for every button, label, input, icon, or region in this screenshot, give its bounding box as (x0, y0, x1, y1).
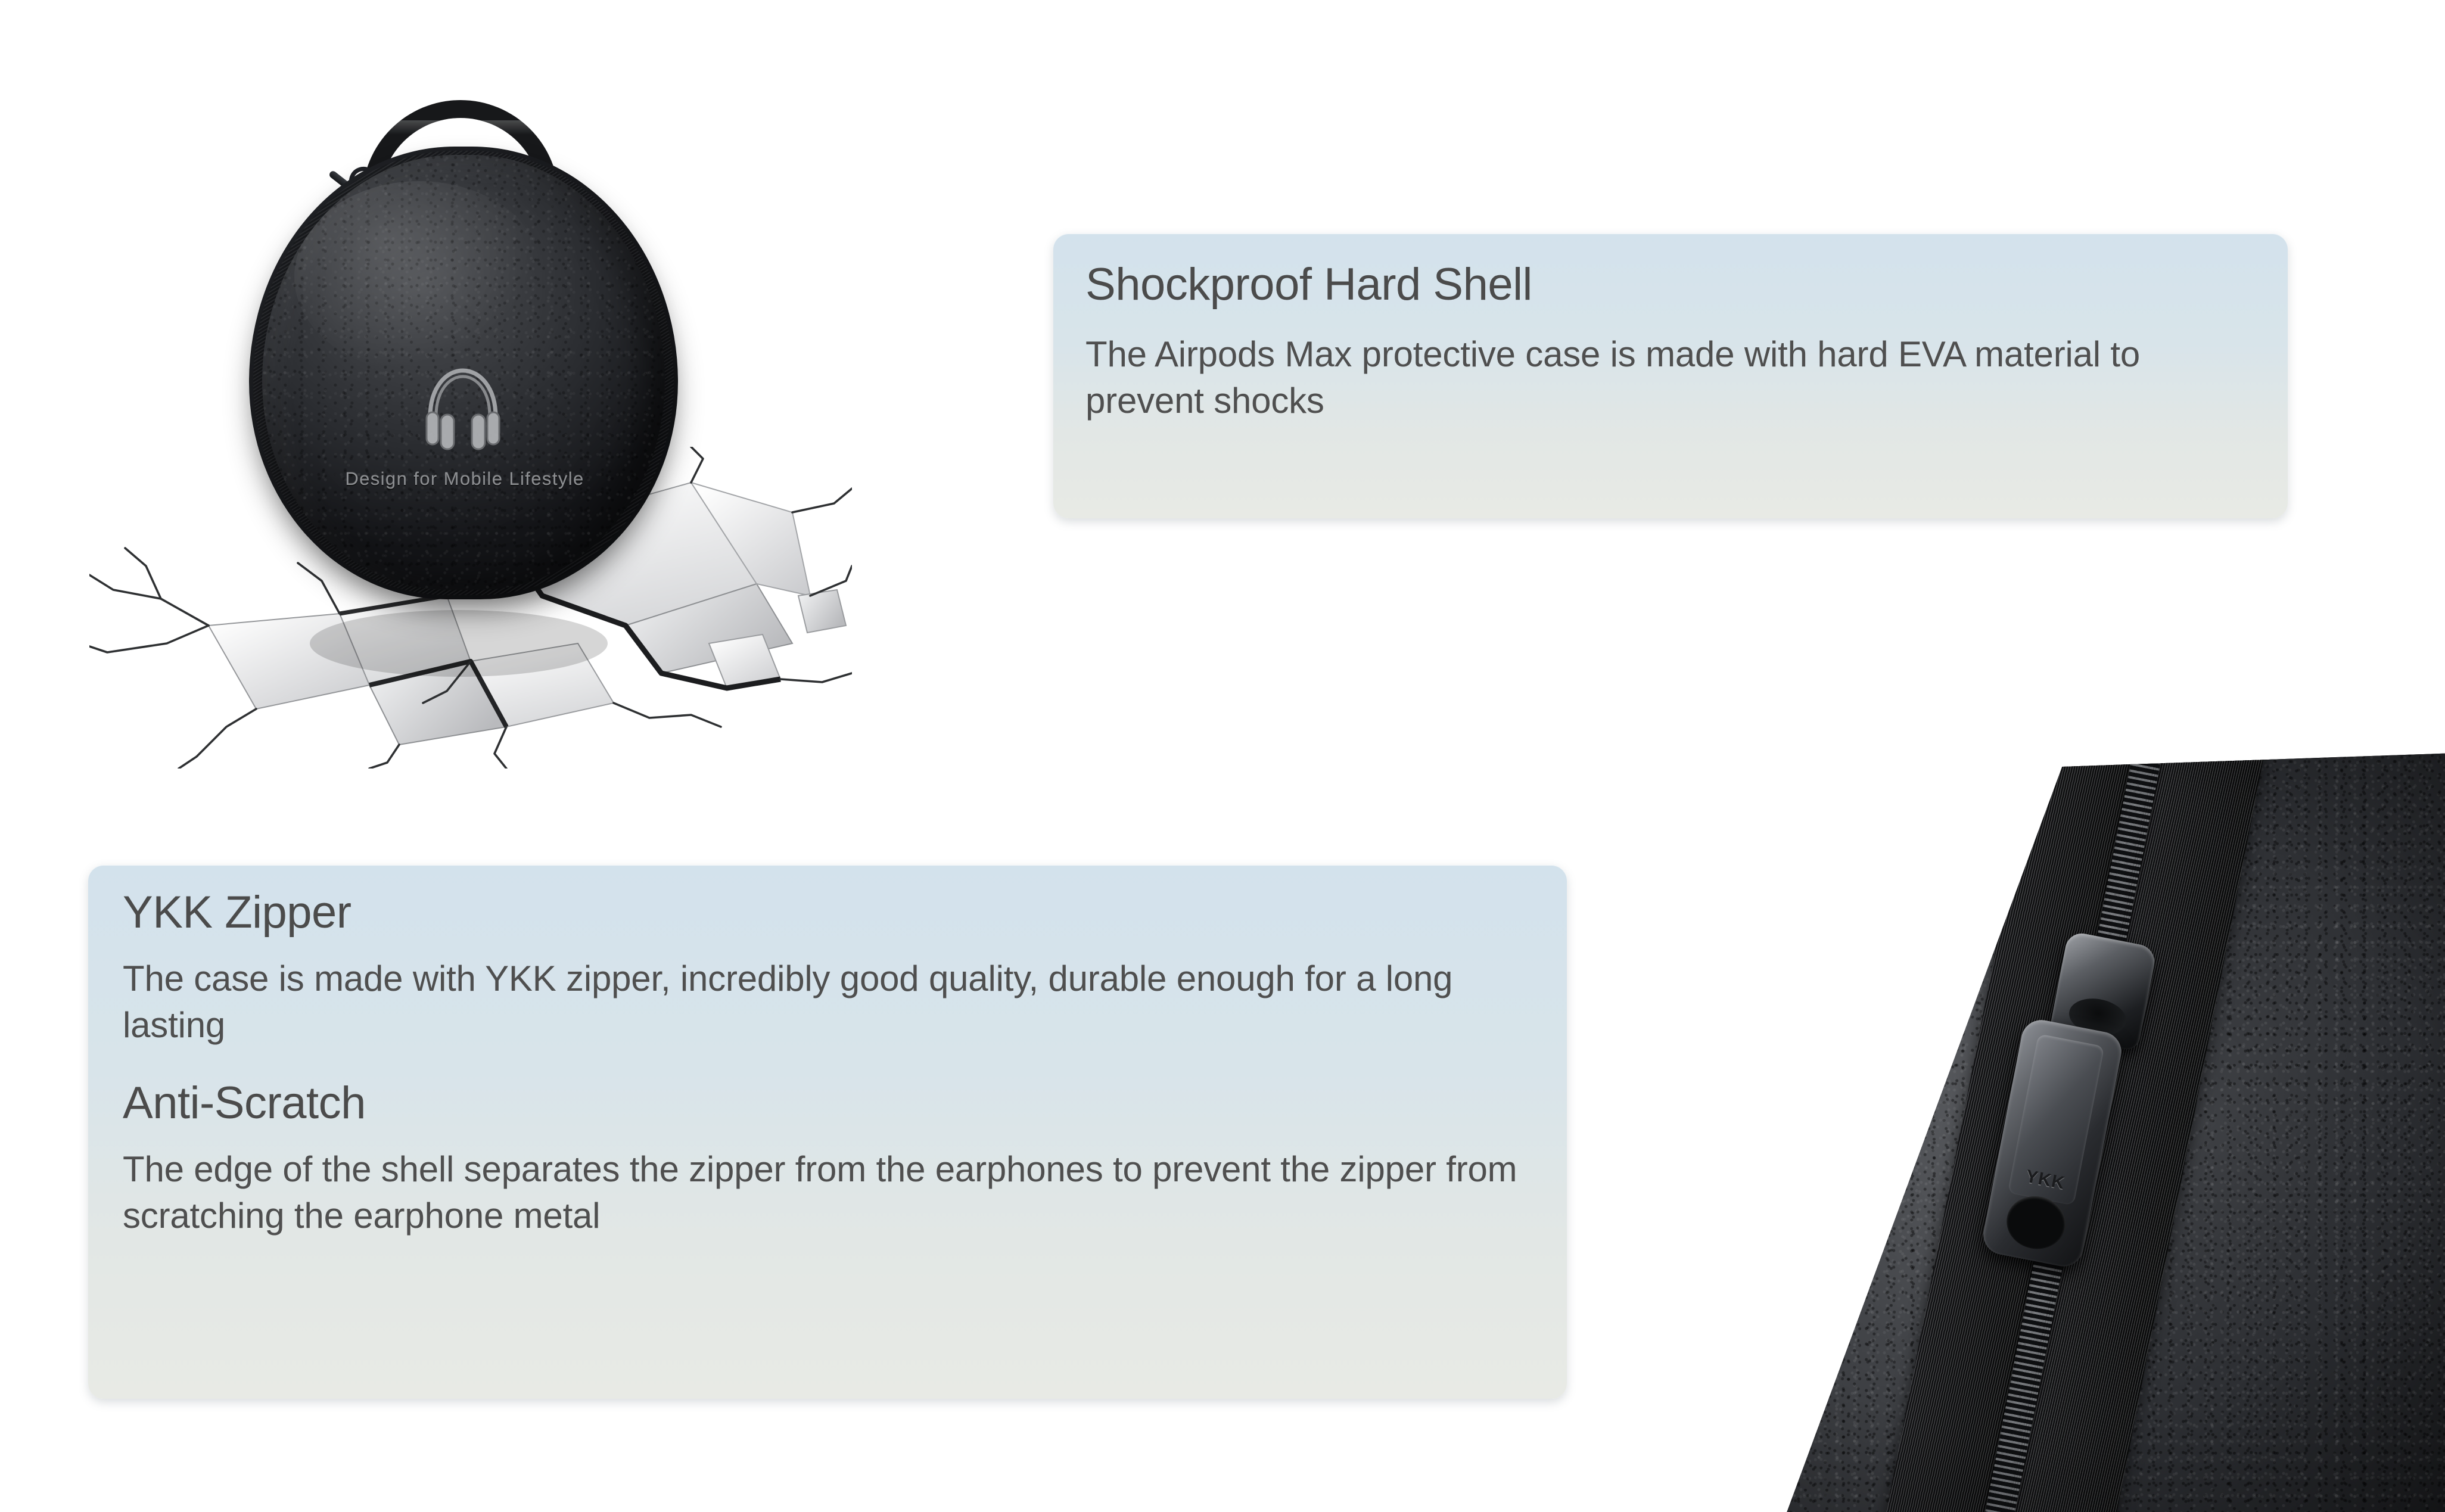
product-photo-ykk-zipper-closeup: YKK (1585, 732, 2445, 1512)
feature-body-anti-scratch: The edge of the shell separates the zipp… (123, 1146, 1532, 1239)
headphones-emblem-icon (413, 362, 512, 452)
feature-title-ykk-zipper: YKK Zipper (123, 889, 1532, 937)
feature-section-ykk-zipper: YKK Zipper The case is made with YKK zip… (123, 889, 1532, 1049)
airpods-max-case-graphic: Design for Mobile Lifestyle (249, 100, 678, 601)
feature-card-ykk-antiscratch: YKK Zipper The case is made with YKK zip… (88, 865, 1567, 1399)
feature-body-shockproof: The Airpods Max protective case is made … (1085, 331, 2229, 424)
product-photo-case-shockproof: Design for Mobile Lifestyle (89, 30, 852, 769)
feature-body-ykk-zipper: The case is made with YKK zipper, incred… (123, 956, 1532, 1049)
feature-card-shockproof: Shockproof Hard Shell The Airpods Max pr… (1053, 234, 2288, 518)
feature-title-anti-scratch: Anti-Scratch (123, 1079, 1532, 1127)
case-emboss-text: Design for Mobile Lifestyle (322, 468, 608, 490)
feature-title-shockproof: Shockproof Hard Shell (1085, 261, 2256, 309)
feature-section-anti-scratch: Anti-Scratch The edge of the shell separ… (123, 1079, 1532, 1239)
zipper-photo-canvas: YKK (1585, 732, 2445, 1512)
